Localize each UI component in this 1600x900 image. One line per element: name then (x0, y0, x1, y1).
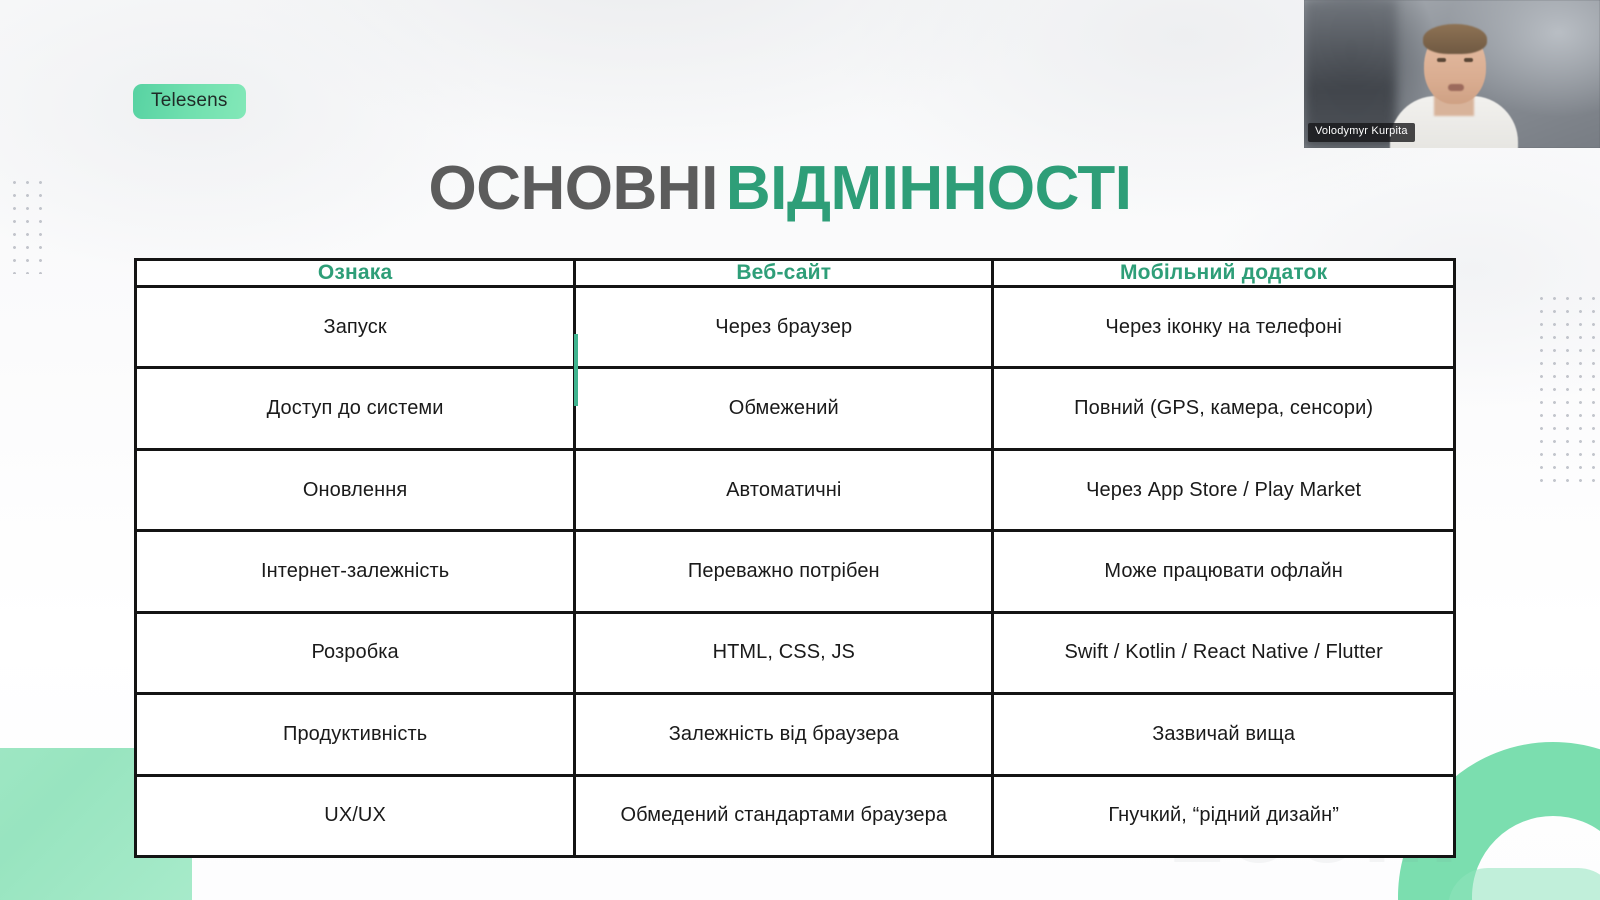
table-row: Продуктивність Залежність від браузера З… (136, 694, 1455, 775)
cell-website: Обмежений (575, 368, 993, 449)
cell-website: Обмедений стандартами браузера (575, 775, 993, 856)
table-body: Запуск Через браузер Через іконку на тел… (136, 287, 1455, 857)
participant-eye-left (1437, 58, 1446, 62)
participant-hair (1423, 24, 1487, 54)
cell-mobile: Повний (GPS, камера, сенсори) (993, 368, 1455, 449)
table-row: Доступ до системи Обмежений Повний (GPS,… (136, 368, 1455, 449)
participant-name-label: Volodymyr Kurpita (1308, 123, 1415, 142)
cell-mobile: Swift / Kotlin / React Native / Flutter (993, 612, 1455, 693)
table-row: UX/UX Обмедений стандартами браузера Гну… (136, 775, 1455, 856)
page-title-primary: Основні (429, 154, 718, 223)
decorative-green-blob-bottom-right (1448, 868, 1600, 900)
brand-badge-label: Telesens (151, 90, 228, 111)
presentation-slide: zoom Telesens Основнівідмінності Ознака … (0, 0, 1600, 900)
table-header-row: Ознака Веб-сайт Мобільний додаток (136, 260, 1455, 287)
cell-website: Через браузер (575, 287, 993, 368)
comparison-table-container: Ознака Веб-сайт Мобільний додаток Запуск… (134, 258, 1456, 858)
column-header-feature: Ознака (136, 260, 575, 287)
cell-feature: Доступ до системи (136, 368, 575, 449)
table-header: Ознака Веб-сайт Мобільний додаток (136, 260, 1455, 287)
column-header-website: Веб-сайт (575, 260, 993, 287)
table-row: Оновлення Автоматичні Через App Store / … (136, 449, 1455, 530)
cell-feature: UX/UX (136, 775, 575, 856)
cell-feature: Оновлення (136, 449, 575, 530)
cell-website: Переважно потрібен (575, 531, 993, 612)
table-row: Інтернет-залежність Переважно потрібен М… (136, 531, 1455, 612)
cell-feature: Продуктивність (136, 694, 575, 775)
cell-mobile: Може працювати офлайн (993, 531, 1455, 612)
brand-badge: Telesens (133, 84, 246, 119)
cell-feature: Інтернет-залежність (136, 531, 575, 612)
cell-website: Залежність від браузера (575, 694, 993, 775)
cell-feature: Розробка (136, 612, 575, 693)
participant-mouth (1448, 84, 1464, 91)
cell-mobile: Через App Store / Play Market (993, 449, 1455, 530)
participant-eye-right (1464, 58, 1473, 62)
cell-website: HTML, CSS, JS (575, 612, 993, 693)
participant-video-tile[interactable]: Volodymyr Kurpita (1304, 0, 1600, 148)
page-title-accent: відмінності (726, 154, 1132, 223)
cell-mobile: Гнучкий, “рідний дизайн” (993, 775, 1455, 856)
cell-mobile: Через іконку на телефоні (993, 287, 1455, 368)
decorative-dot-grid-right (1535, 292, 1600, 482)
comparison-table: Ознака Веб-сайт Мобільний додаток Запуск… (134, 258, 1456, 858)
green-accent-line (574, 334, 578, 406)
cell-mobile: Зазвичай вища (993, 694, 1455, 775)
column-header-mobile-app: Мобільний додаток (993, 260, 1455, 287)
table-row: Розробка HTML, CSS, JS Swift / Kotlin / … (136, 612, 1455, 693)
page-title: Основнівідмінності (0, 153, 1560, 224)
cell-feature: Запуск (136, 287, 575, 368)
cell-website: Автоматичні (575, 449, 993, 530)
table-row: Запуск Через браузер Через іконку на тел… (136, 287, 1455, 368)
